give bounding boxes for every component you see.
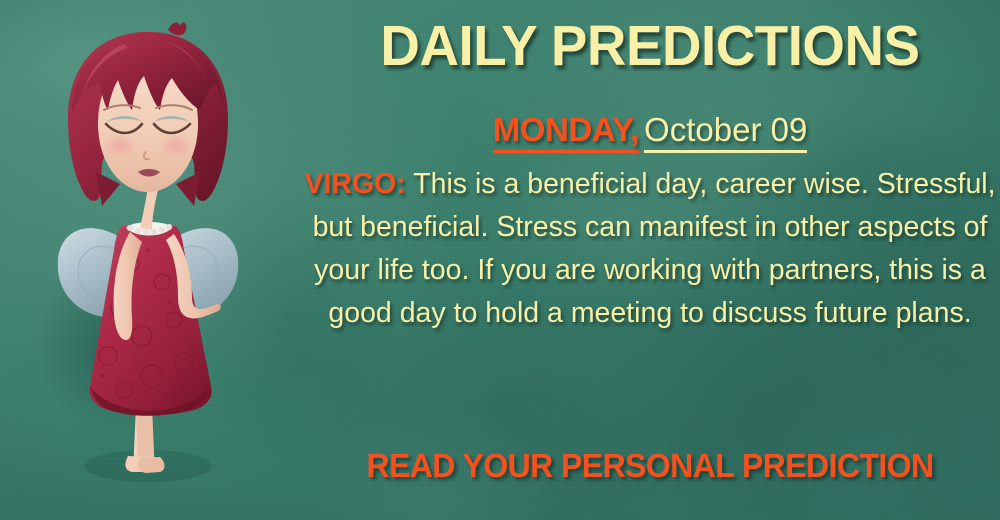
dateline-month-day: October 09 [644,111,807,153]
read-personal-prediction-link[interactable]: READ YOUR PERSONAL PREDICTION [311,447,990,485]
cheek-blush-left [103,134,137,158]
zodiac-sign-label: VIRGO: [304,168,405,200]
page-title: DAILY PREDICTIONS [314,18,986,75]
head [68,23,228,206]
daily-predictions-banner: DAILY PREDICTIONS MONDAY,October 09 VIRG… [0,0,1000,520]
dateline-weekday: MONDAY, [493,111,639,153]
angel-girl-illustration [28,14,268,514]
prediction-body: This is a beneficial day, career wise. S… [313,168,996,329]
prediction-text: VIRGO: This is a beneficial day, career … [300,163,1000,335]
text-column: DAILY PREDICTIONS MONDAY,October 09 VIRG… [300,0,1000,520]
dateline: MONDAY,October 09 [300,112,1000,148]
cheek-blush-right [159,134,193,158]
